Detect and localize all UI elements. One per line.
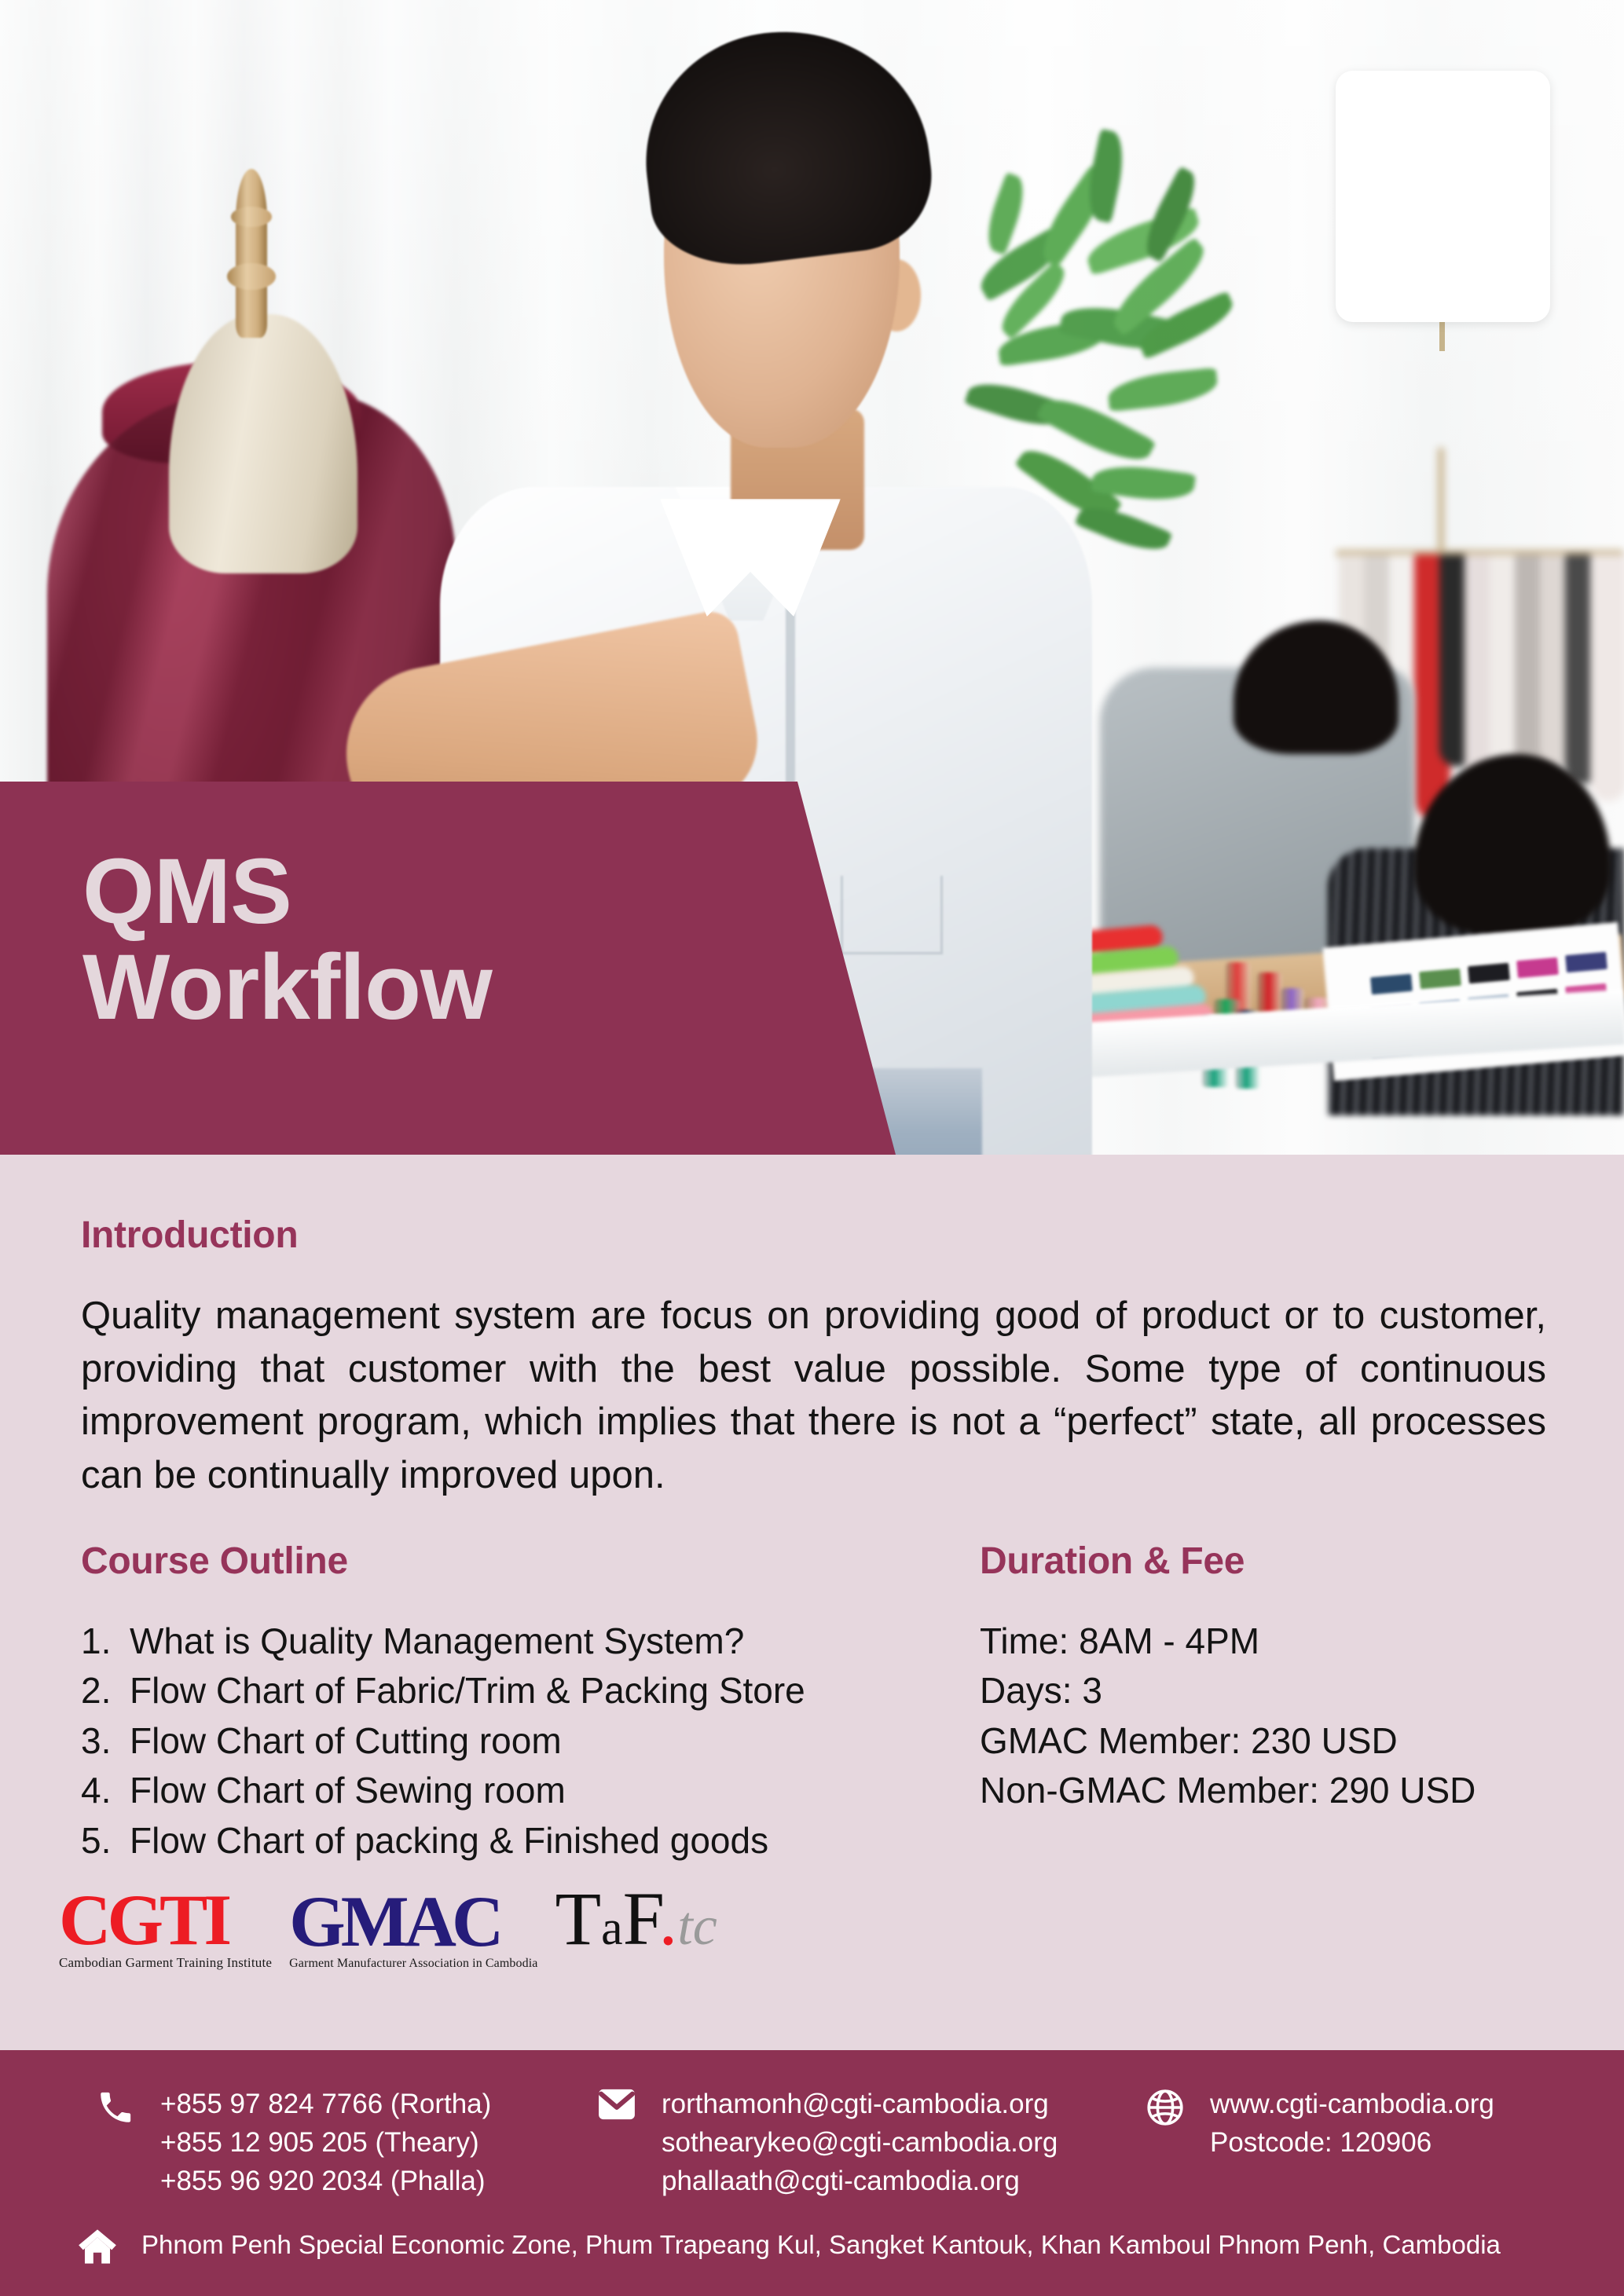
phone-icon	[96, 2085, 140, 2200]
logo-gmac: GMAC Garment Manufacturer Association in…	[289, 1888, 537, 1971]
home-icon	[77, 2225, 121, 2265]
course-outline-item-label: Flow Chart of Fabric/Trim & Packing Stor…	[130, 1666, 805, 1716]
envelope-icon	[597, 2085, 641, 2200]
duration-fee-list: Time: 8AM - 4PMDays: 3GMAC Member: 230 U…	[980, 1617, 1593, 1816]
logo-gmac-tagline: Garment Manufacturer Association in Camb…	[289, 1957, 537, 1971]
course-outline-item: 2.Flow Chart of Fabric/Trim & Packing St…	[81, 1666, 914, 1716]
footer-email-addresses[interactable]: rorthamonh@cgti-cambodia.org sothearykeo…	[662, 2085, 1058, 2200]
contact-footer: +855 97 824 7766 (Rortha) +855 12 905 20…	[0, 2050, 1624, 2296]
footer-email-block: rorthamonh@cgti-cambodia.org sothearykeo…	[597, 2085, 1139, 2200]
logo-taftc: TaF.tc	[555, 1881, 717, 1971]
duration-fee-item: Non-GMAC Member: 290 USD	[980, 1766, 1593, 1815]
course-outline-item-label: Flow Chart of packing & Finished goods	[130, 1816, 768, 1866]
duration-fee-heading: Duration & Fee	[980, 1540, 1245, 1583]
globe-icon	[1146, 2085, 1190, 2200]
course-outline-item: 1.What is Quality Management System?	[81, 1617, 914, 1666]
qr-card-stand	[1439, 318, 1445, 351]
logo-taftc-a: a	[601, 1902, 623, 1955]
enrollment-qr-card[interactable]: CGTI Cambodian Garment Training Institut…	[1336, 71, 1550, 322]
course-outline-item-number: 4.	[81, 1766, 130, 1815]
footer-phone-numbers[interactable]: +855 97 824 7766 (Rortha) +855 12 905 20…	[160, 2085, 491, 2200]
course-outline-item: 3.Flow Chart of Cutting room	[81, 1716, 914, 1766]
footer-web-block: www.cgti-cambodia.org Postcode: 120906	[1146, 2085, 1494, 2200]
logo-taftc-f: F	[623, 1877, 659, 1961]
course-outline-item-number: 1.	[81, 1617, 130, 1666]
footer-address-block: Phnom Penh Special Economic Zone, Phum T…	[77, 2225, 1501, 2265]
duration-fee-item: Days: 3	[980, 1666, 1593, 1716]
logo-taftc-t: T	[555, 1877, 601, 1961]
page-title-line-1: QMS	[82, 844, 492, 940]
course-outline-item-number: 3.	[81, 1716, 130, 1766]
partner-logos: CGTI Cambodian Garment Training Institut…	[59, 1881, 717, 1971]
logo-taftc-dot: .	[658, 1877, 677, 1961]
page-title: QMS Workflow	[82, 844, 492, 1035]
course-outline-list: 1.What is Quality Management System?2.Fl…	[81, 1617, 914, 1866]
introduction-heading: Introduction	[81, 1214, 298, 1257]
logo-cgti-wordmark: CGTI	[59, 1886, 272, 1954]
course-outline-item: 5.Flow Chart of packing & Finished goods	[81, 1816, 914, 1866]
logo-cgti: CGTI Cambodian Garment Training Institut…	[59, 1886, 272, 1971]
duration-fee-item: GMAC Member: 230 USD	[980, 1716, 1593, 1766]
logo-cgti-tagline: Cambodian Garment Training Institute	[59, 1955, 272, 1971]
page-title-line-2: Workflow	[82, 940, 492, 1036]
mannequin-finial	[236, 169, 267, 338]
course-outline-item-number: 2.	[81, 1666, 130, 1716]
course-outline-item-label: Flow Chart of Cutting room	[130, 1716, 562, 1766]
logo-gmac-wordmark: GMAC	[289, 1888, 537, 1955]
footer-address-text: Phnom Penh Special Economic Zone, Phum T…	[141, 2227, 1501, 2263]
footer-phone-block: +855 97 824 7766 (Rortha) +855 12 905 20…	[96, 2085, 583, 2200]
course-outline-item-number: 5.	[81, 1816, 130, 1866]
introduction-paragraph: Quality management system are focus on p…	[81, 1290, 1546, 1502]
title-banner: QMS Workflow	[0, 782, 896, 1155]
footer-website-and-postcode[interactable]: www.cgti-cambodia.org Postcode: 120906	[1210, 2085, 1494, 2200]
course-outline-heading: Course Outline	[81, 1540, 348, 1583]
logo-taftc-tc: tc	[677, 1896, 717, 1957]
course-outline-item-label: What is Quality Management System?	[130, 1617, 744, 1666]
content-section: Introduction Quality management system a…	[0, 1155, 1624, 2050]
course-outline-item: 4.Flow Chart of Sewing room	[81, 1766, 914, 1815]
course-outline-item-label: Flow Chart of Sewing room	[130, 1766, 566, 1815]
shirt-pocket	[841, 876, 943, 954]
duration-fee-item: Time: 8AM - 4PM	[980, 1617, 1593, 1666]
